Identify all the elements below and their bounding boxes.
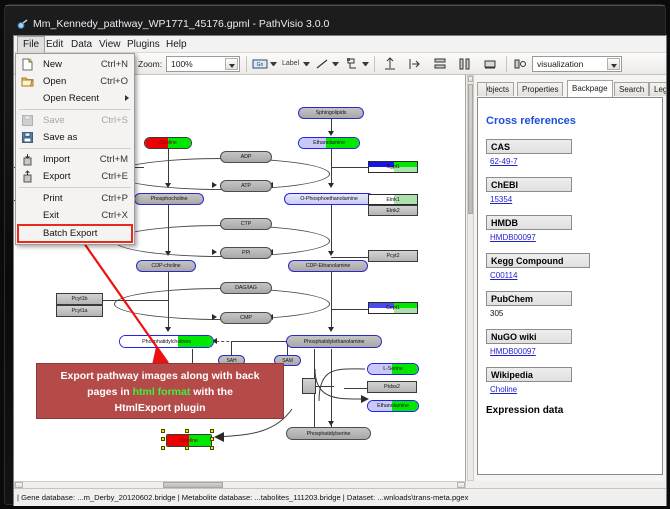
edge [331, 272, 332, 330]
menu-bar: File Edit Data View Plugins Help [14, 36, 666, 53]
menu-item-label: Print [43, 193, 63, 204]
svg-text:Gn: Gn [257, 62, 264, 68]
chevron-down-icon[interactable] [225, 58, 238, 70]
save-as-icon [21, 131, 34, 144]
arrow-head [328, 327, 334, 332]
edge [231, 341, 232, 355]
xref-value: 62-49-7 [486, 154, 662, 166]
toolbar-separator [246, 56, 247, 72]
export-icon [21, 170, 34, 183]
zoom-label: Zoom: [138, 59, 162, 69]
xref-value: Choline [486, 382, 662, 394]
menu-item-open-recent[interactable]: Open Recent [16, 90, 134, 107]
stack-vertical-icon[interactable] [432, 56, 448, 72]
window-title-text: Mm_Kennedy_pathway_WP1771_45176.gpml - P… [33, 18, 329, 30]
menu-separator [19, 148, 131, 149]
menu-plugins[interactable]: Plugins [122, 37, 165, 52]
xref-chebi: ChEBI 15354 [486, 177, 662, 204]
xref-cas: CAS 62-49-7 [486, 139, 662, 166]
toolbar-separator [506, 56, 507, 72]
expression-data-heading: Expression data [486, 405, 662, 416]
node-cmp[interactable]: CMP [220, 312, 272, 324]
menu-item-label: Save [43, 115, 65, 126]
menu-item-new[interactable]: New Ctrl+N [16, 56, 134, 73]
menu-item-label: Import [43, 154, 70, 165]
screenshot-root: Mm_Kennedy_pathway_WP1771_45176.gpml - P… [0, 0, 670, 509]
tab-backpage[interactable]: Backpage [567, 80, 613, 97]
xref-link[interactable]: 62-49-7 [490, 157, 518, 166]
node-sgpl1[interactable]: Sgpl1 [368, 161, 418, 173]
stack-horizontal-icon[interactable] [457, 56, 473, 72]
node-phosphatidylcholines[interactable]: Phosphatidylcholines [119, 335, 214, 348]
xref-name: PubChem [486, 291, 572, 306]
edge [331, 309, 369, 310]
xref-wikipedia: Wikipedia Choline [486, 367, 662, 394]
interaction-dropdown-arrow[interactable] [362, 62, 369, 67]
edge [231, 341, 288, 342]
callout-line-2: pages in html format with the [43, 384, 277, 400]
menu-item-save-as[interactable]: Save as [16, 129, 134, 146]
datanode-dropdown-arrow[interactable] [270, 62, 277, 67]
file-dropdown-menu[interactable]: New Ctrl+N Open Ctrl+O Open Recent [15, 53, 135, 245]
tab-properties[interactable]: Properties [517, 82, 563, 96]
menu-item-exit[interactable]: Exit Ctrl+X [16, 207, 134, 224]
menu-item-export[interactable]: Export Ctrl+E [16, 168, 134, 185]
menu-help[interactable]: Help [161, 37, 192, 52]
process-node[interactable] [302, 378, 316, 394]
panel-tabstrip: Objects Properties Backpage Search Legen… [477, 80, 667, 97]
annotation-callout: Export pathway images along with back pa… [36, 363, 284, 419]
client-area: File Edit Data View Plugins Help Zoom: 1… [13, 35, 667, 506]
node-cdp-choline[interactable]: CDP-choline [136, 260, 196, 272]
menu-item-label: Exit [43, 210, 59, 221]
scroll-thumb[interactable] [468, 84, 473, 214]
xref-nugo-wiki: NuGO wiki HMDB00097 [486, 329, 662, 356]
node-dag-iag[interactable]: DAG/IAG [220, 282, 272, 294]
scroll-up-button[interactable] [468, 76, 473, 82]
callout-highlight: html format [133, 386, 191, 398]
edge [331, 257, 369, 258]
node-phosphocholine[interactable]: Phosphocholine [134, 193, 204, 205]
menu-separator [19, 187, 131, 188]
node-cdp-ethanolamine[interactable]: CDP-Ethanolamine [288, 260, 368, 272]
menu-item-accelerator: Ctrl+E [101, 168, 128, 185]
xref-link[interactable]: HMDB00097 [490, 347, 536, 356]
chevron-right-icon [125, 95, 129, 101]
menu-item-accelerator: Ctrl+N [101, 56, 128, 73]
xref-name: ChEBI [486, 177, 572, 192]
menu-item-import[interactable]: Import Ctrl+M [16, 151, 134, 168]
menu-item-accelerator: Ctrl+S [101, 112, 128, 129]
menu-edit[interactable]: Edit [41, 37, 68, 52]
status-bar-text: | Gene database: ...m_Derby_20120602.bri… [17, 493, 468, 502]
node-etnk1[interactable]: Etnk1 [368, 194, 418, 205]
node-adp[interactable]: ADP [220, 151, 272, 163]
node-atp[interactable]: ATP [220, 180, 272, 192]
group-icon[interactable] [482, 56, 498, 72]
node-l-serine[interactable]: L-Serine [367, 363, 419, 375]
xref-pubchem: PubChem 305 [486, 291, 662, 318]
menu-item-label: New [43, 59, 62, 70]
chevron-down-icon[interactable] [607, 58, 620, 70]
node-cept1[interactable]: Cept1 [368, 302, 418, 314]
import-icon [21, 153, 34, 166]
menu-item-label: Batch Export [43, 228, 97, 239]
application-window-frame: Mm_Kennedy_pathway_WP1771_45176.gpml - P… [4, 4, 666, 505]
xref-link[interactable]: 15354 [490, 195, 512, 204]
menu-item-accelerator: Ctrl+X [101, 207, 128, 224]
xref-value: HMDB00097 [486, 344, 662, 356]
align-left-icon[interactable] [407, 56, 423, 72]
xref-hmdb: HMDB HMDB00097 [486, 215, 662, 242]
xref-value: 15354 [486, 192, 662, 204]
node-ctp[interactable]: CTP [220, 218, 272, 230]
arrow-head [328, 131, 334, 136]
xref-name: CAS [486, 139, 572, 154]
datanode-icon[interactable]: Gn [252, 56, 268, 72]
callout-line-2a: pages in [87, 386, 133, 398]
xref-link[interactable]: HMDB00097 [490, 233, 536, 242]
xref-kegg-compound: Kegg Compound C00114 [486, 253, 662, 280]
node-ppi[interactable]: PPi [220, 247, 272, 259]
node-ethanolamine-top[interactable]: Ethanolamine [298, 137, 360, 149]
line-icon[interactable] [314, 56, 330, 72]
menu-data[interactable]: Data [66, 37, 97, 52]
arrow-head [212, 314, 217, 320]
tab-legend[interactable]: Legend [649, 82, 667, 96]
side-panel: Objects Properties Backpage Search Legen… [467, 75, 667, 481]
open-folder-icon [21, 75, 34, 88]
new-document-icon [21, 58, 34, 71]
node-phosphatidylethanolamine[interactable]: Phosphatidylethanolamine [286, 335, 382, 348]
menu-item-print[interactable]: Print Ctrl+P [16, 190, 134, 207]
menu-item-label: Open Recent [43, 93, 99, 104]
node-sphingolipids[interactable]: Sphingolipids [298, 107, 364, 119]
menu-item-accelerator: Ctrl+O [100, 73, 128, 90]
status-bar: | Gene database: ...m_Derby_20120602.bri… [14, 488, 667, 506]
menu-separator [19, 109, 131, 110]
node-ethanolamine-right[interactable]: Ethanolamine [367, 400, 419, 412]
xref-name: Wikipedia [486, 367, 572, 382]
toolbar-separator [374, 56, 375, 72]
align-top-icon[interactable] [382, 56, 398, 72]
line-dropdown-arrow[interactable] [332, 62, 339, 67]
arrow-head [328, 183, 334, 188]
xref-name: Kegg Compound [486, 253, 590, 268]
visualization-value: visualization [537, 59, 583, 69]
node-pcyt1b[interactable]: Pcyt1b [56, 293, 103, 305]
arrow-head [328, 251, 334, 256]
menu-item-batch-export[interactable]: Batch Export [18, 225, 132, 242]
menu-item-accelerator: Ctrl+P [101, 190, 128, 207]
node-phosphatidylserine[interactable]: Phosphatidylserine [286, 427, 371, 440]
callout-line-1: Export pathway images along with back [43, 368, 277, 384]
edge [331, 167, 369, 168]
node-etnk2[interactable]: Etnk2 [368, 205, 418, 216]
zoom-combobox[interactable]: 100% [166, 56, 240, 72]
xref-link[interactable]: C00114 [490, 271, 517, 280]
arrow-head [165, 327, 171, 332]
xref-value: 305 [486, 306, 662, 318]
backpage-content: Cross references CAS 62-49-7 ChEBI 15354… [477, 97, 663, 475]
arrow-head [328, 421, 334, 426]
title-bar: Mm_Kennedy_pathway_WP1771_45176.gpml - P… [13, 13, 667, 35]
menu-item-label: Export [43, 171, 70, 182]
node-o-phosphoethanolamine[interactable]: O-Phosphoethanolamine [284, 193, 374, 205]
panel-vertical-scrollbar[interactable] [467, 75, 474, 481]
xref-value: C00114 [486, 268, 662, 280]
edge [316, 386, 334, 387]
zoom-value: 100% [171, 59, 193, 69]
menu-item-save: Save Ctrl+S [16, 112, 134, 129]
tab-spacer [477, 82, 487, 96]
callout-line-2b: with the [190, 386, 233, 398]
tab-search[interactable]: Search [614, 82, 649, 96]
menu-item-label: Save as [43, 132, 77, 143]
edge [331, 205, 332, 253]
arrow-head [212, 182, 217, 188]
menu-item-open[interactable]: Open Ctrl+O [16, 73, 134, 90]
backpage-heading: Cross references [486, 115, 662, 127]
node-pcyt1a[interactable]: Pcyt1a [56, 305, 103, 317]
xref-name: HMDB [486, 215, 572, 230]
node-choline-top[interactable]: Choline [144, 137, 192, 149]
menu-view[interactable]: View [94, 37, 126, 52]
visualization-icon[interactable] [512, 56, 528, 72]
arrow-head [212, 249, 217, 255]
xref-link[interactable]: Choline [490, 385, 517, 394]
edge [331, 149, 332, 185]
interaction-icon[interactable] [344, 56, 360, 72]
save-disk-icon [21, 114, 34, 127]
visualization-combobox[interactable]: visualization [532, 56, 622, 72]
menu-item-label: Open [43, 76, 66, 87]
label-dropdown-arrow[interactable] [303, 62, 310, 67]
label-tool-label[interactable]: Label [282, 60, 299, 67]
pathvisio-app-icon [17, 18, 29, 30]
xref-name: NuGO wiki [486, 329, 572, 344]
node-ptdss2[interactable]: Ptdss2 [367, 381, 417, 393]
callout-line-3: HtmlExport plugin [43, 400, 277, 416]
menu-item-accelerator: Ctrl+M [100, 151, 128, 168]
node-pcyt2[interactable]: Pcyt2 [368, 250, 418, 262]
xref-value: HMDB00097 [486, 230, 662, 242]
